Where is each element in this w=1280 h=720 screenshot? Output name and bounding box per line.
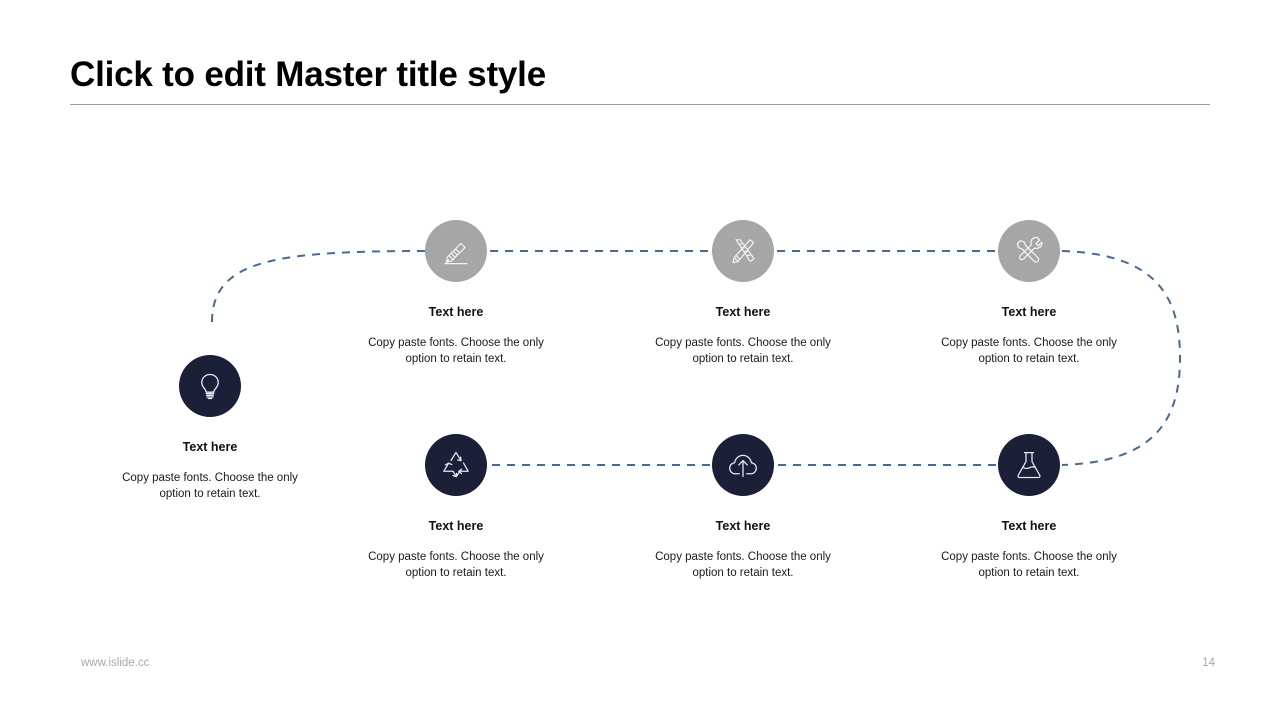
node-circle[interactable] bbox=[425, 220, 487, 282]
node-circle[interactable] bbox=[998, 220, 1060, 282]
pencil-icon bbox=[440, 235, 472, 267]
node-heading: Text here bbox=[306, 305, 606, 320]
node-circle[interactable] bbox=[425, 434, 487, 496]
node-body: Copy paste fonts. Choose the only option… bbox=[110, 471, 310, 502]
node-body: Copy paste fonts. Choose the only option… bbox=[929, 336, 1129, 367]
recycle-icon bbox=[440, 449, 472, 481]
process-flow-diagram: Text here Copy paste fonts. Choose the o… bbox=[0, 0, 1280, 720]
node-body: Copy paste fonts. Choose the only option… bbox=[356, 336, 556, 367]
flow-node-recycle[interactable]: Text here Copy paste fonts. Choose the o… bbox=[306, 434, 606, 581]
cloud-upload-icon bbox=[727, 449, 759, 481]
flow-node-cloud[interactable]: Text here Copy paste fonts. Choose the o… bbox=[593, 434, 893, 581]
wrench-screwdriver-icon bbox=[1013, 235, 1045, 267]
node-circle[interactable] bbox=[179, 355, 241, 417]
flow-node-design[interactable]: Text here Copy paste fonts. Choose the o… bbox=[593, 220, 893, 367]
footer-url[interactable]: www.islide.cc bbox=[81, 657, 149, 669]
flask-icon bbox=[1013, 449, 1045, 481]
node-circle[interactable] bbox=[998, 434, 1060, 496]
node-circle[interactable] bbox=[712, 434, 774, 496]
flow-node-flask[interactable]: Text here Copy paste fonts. Choose the o… bbox=[879, 434, 1179, 581]
node-body: Copy paste fonts. Choose the only option… bbox=[643, 336, 843, 367]
lightbulb-icon bbox=[194, 370, 226, 402]
node-heading: Text here bbox=[593, 519, 893, 534]
node-body: Copy paste fonts. Choose the only option… bbox=[643, 550, 843, 581]
node-body: Copy paste fonts. Choose the only option… bbox=[929, 550, 1129, 581]
node-body: Copy paste fonts. Choose the only option… bbox=[356, 550, 556, 581]
node-heading: Text here bbox=[593, 305, 893, 320]
node-heading: Text here bbox=[879, 519, 1179, 534]
node-heading: Text here bbox=[306, 519, 606, 534]
flow-node-pencil[interactable]: Text here Copy paste fonts. Choose the o… bbox=[306, 220, 606, 367]
flow-node-tools[interactable]: Text here Copy paste fonts. Choose the o… bbox=[879, 220, 1179, 367]
node-heading: Text here bbox=[879, 305, 1179, 320]
pencil-ruler-icon bbox=[727, 235, 759, 267]
node-circle[interactable] bbox=[712, 220, 774, 282]
page-number: 14 bbox=[1175, 657, 1215, 669]
